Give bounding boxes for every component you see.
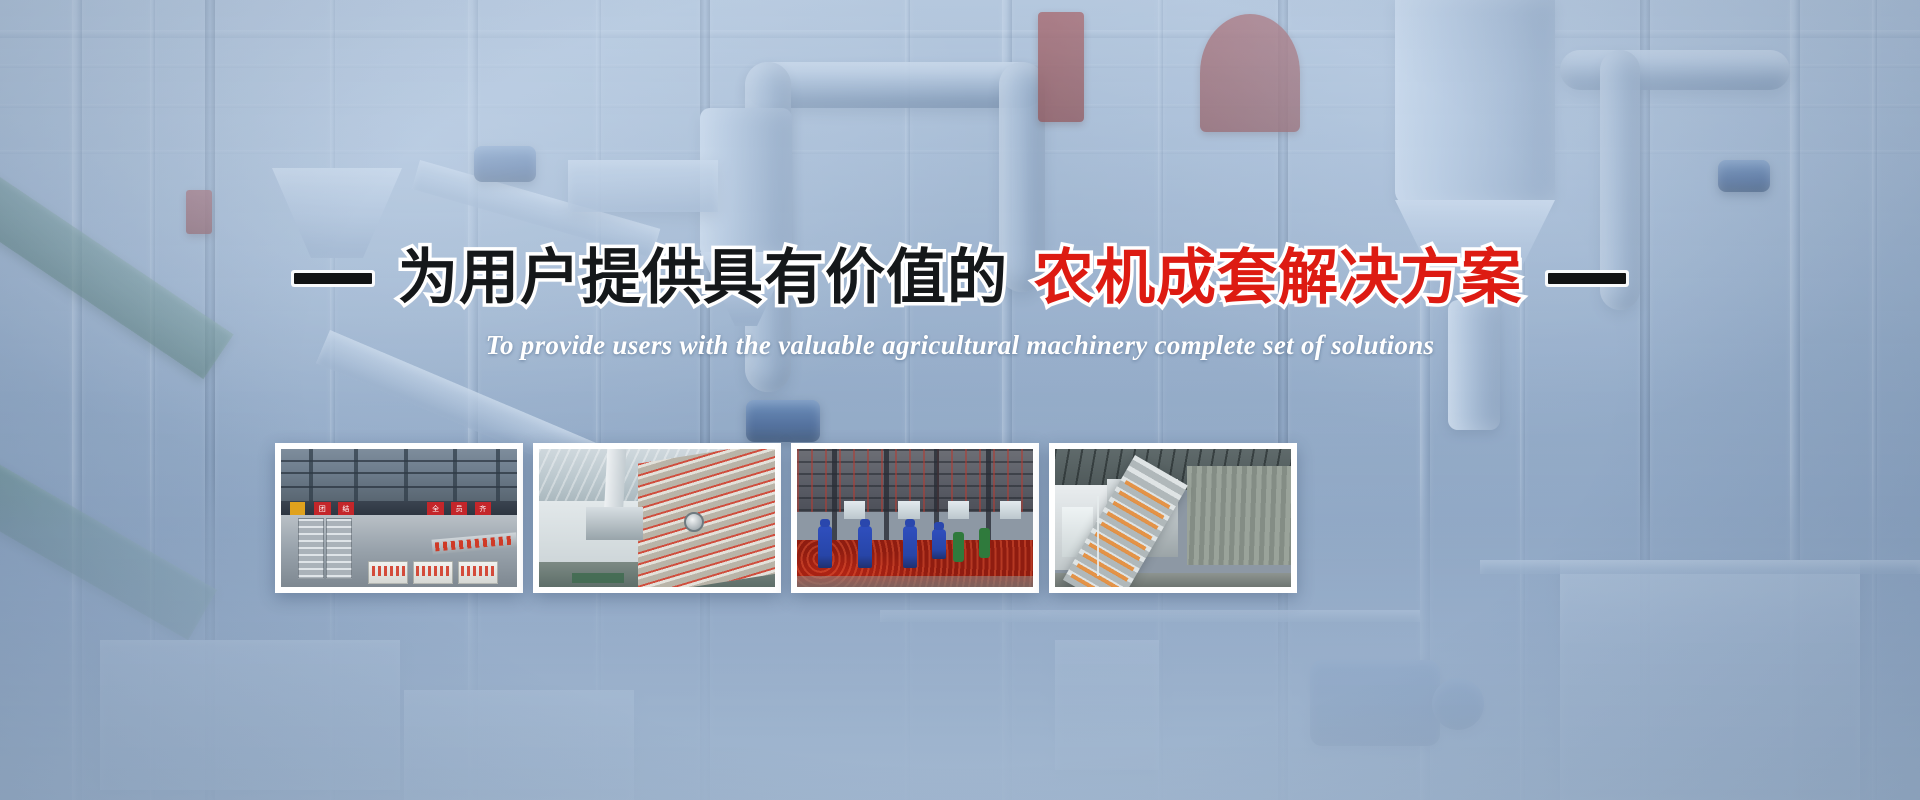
blower-unit: [586, 507, 643, 540]
roof-truss: [281, 472, 517, 474]
roof-truss: [281, 460, 517, 462]
photo-1: 团 结 全 员 齐: [281, 449, 517, 587]
photo-strip: 团 结 全 员 齐: [275, 443, 1297, 593]
subtitle: To provide users with the valuable agric…: [486, 330, 1435, 361]
worker-figure: [818, 526, 832, 568]
worker-figure: [953, 532, 964, 562]
headline-left-rule: [294, 273, 372, 284]
hero-banner: 为用户提供具有价值的农机成套解决方案 To provide users with…: [0, 0, 1920, 800]
warehouse-roof: [281, 449, 517, 504]
support-frame: [1097, 496, 1099, 576]
steel-rack: [298, 518, 324, 579]
headline-dark-text: 为用户提供具有价值的: [398, 248, 1008, 308]
photo-frame-4[interactable]: [1049, 443, 1297, 593]
worker-figure: [979, 528, 990, 558]
floor-mat: [572, 573, 624, 583]
headline-red-text: 农机成套解决方案: [1034, 248, 1522, 308]
photo-frame-1[interactable]: 团 结 全 员 齐: [275, 443, 523, 593]
roof-truss: [281, 486, 517, 488]
photo-frame-3[interactable]: [791, 443, 1039, 593]
product-crate: [413, 561, 453, 584]
steel-column: [832, 449, 837, 548]
hall-window: [1000, 501, 1021, 519]
product-crate: [458, 561, 498, 584]
corrugated-wall: [1187, 466, 1291, 565]
photo-3: [797, 449, 1033, 587]
hall-window: [948, 501, 969, 519]
banner-content: 为用户提供具有价值的农机成套解决方案 To provide users with…: [0, 0, 1920, 800]
hall-floor: [797, 576, 1033, 587]
headline-right-rule: [1548, 273, 1626, 284]
worker-figure: [858, 526, 872, 568]
product-crate: [368, 561, 408, 584]
headline: 为用户提供具有价值的农机成套解决方案: [294, 248, 1626, 308]
hall-window: [898, 501, 919, 519]
drying-conveyor: [638, 449, 775, 587]
steel-rack: [326, 518, 352, 579]
worker-figure: [932, 529, 946, 559]
photo-2: [539, 449, 775, 587]
photo-4: [1055, 449, 1291, 587]
hall-window: [844, 501, 865, 519]
steel-column: [884, 449, 889, 548]
worker-figure: [903, 526, 917, 568]
photo-frame-2[interactable]: [533, 443, 781, 593]
